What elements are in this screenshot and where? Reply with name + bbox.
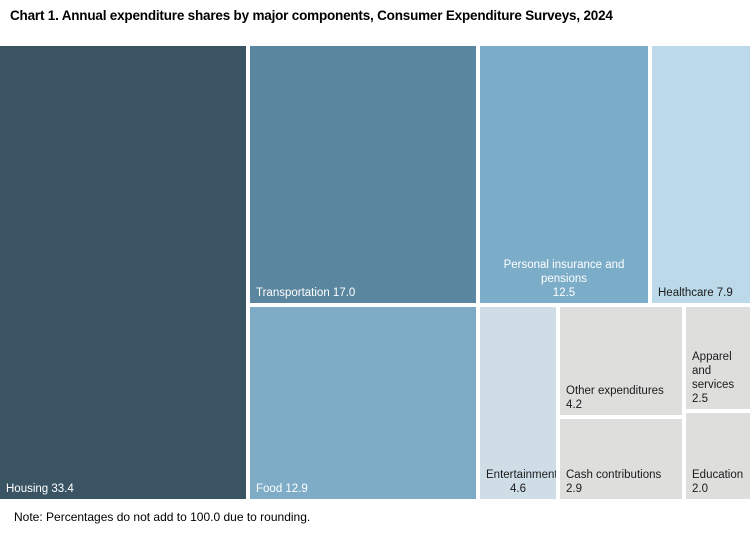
treemap-tile-label: Housing 33.4 (0, 482, 246, 496)
treemap-tile[interactable]: Transportation 17.0 (250, 46, 476, 303)
treemap-tile[interactable]: Apparel and services 2.5 (686, 307, 750, 409)
treemap-tile-label: Other expenditures 4.2 (560, 384, 682, 412)
treemap-tile[interactable]: Food 12.9 (250, 307, 476, 499)
treemap-tile-label: Healthcare 7.9 (652, 286, 750, 300)
treemap-tile-label: Entertainment 4.6 (480, 468, 556, 496)
treemap-tile[interactable]: Personal insurance and pensions 12.5 (480, 46, 648, 303)
treemap-tile-label: Apparel and services 2.5 (686, 350, 750, 406)
treemap-tile[interactable]: Healthcare 7.9 (652, 46, 750, 303)
chart-title: Chart 1. Annual expenditure shares by ma… (10, 8, 740, 24)
treemap-tile[interactable]: Education 2.0 (686, 413, 750, 499)
treemap-tile[interactable]: Entertainment 4.6 (480, 307, 556, 499)
treemap-tile[interactable]: Other expenditures 4.2 (560, 307, 682, 415)
treemap-tile-label: Cash contributions 2.9 (560, 468, 682, 496)
treemap-tile-label: Education 2.0 (686, 468, 750, 496)
treemap-tile-label: Food 12.9 (250, 482, 476, 496)
treemap-tile[interactable]: Housing 33.4 (0, 46, 246, 499)
treemap-tile[interactable]: Cash contributions 2.9 (560, 419, 682, 499)
chart-note: Note: Percentages do not add to 100.0 du… (14, 510, 310, 525)
treemap-tile-label: Transportation 17.0 (250, 286, 476, 300)
treemap-tile-label: Personal insurance and pensions 12.5 (480, 258, 648, 300)
treemap-plot-area: Housing 33.4Transportation 17.0Food 12.9… (0, 46, 750, 499)
treemap-chart: Chart 1. Annual expenditure shares by ma… (0, 0, 750, 536)
